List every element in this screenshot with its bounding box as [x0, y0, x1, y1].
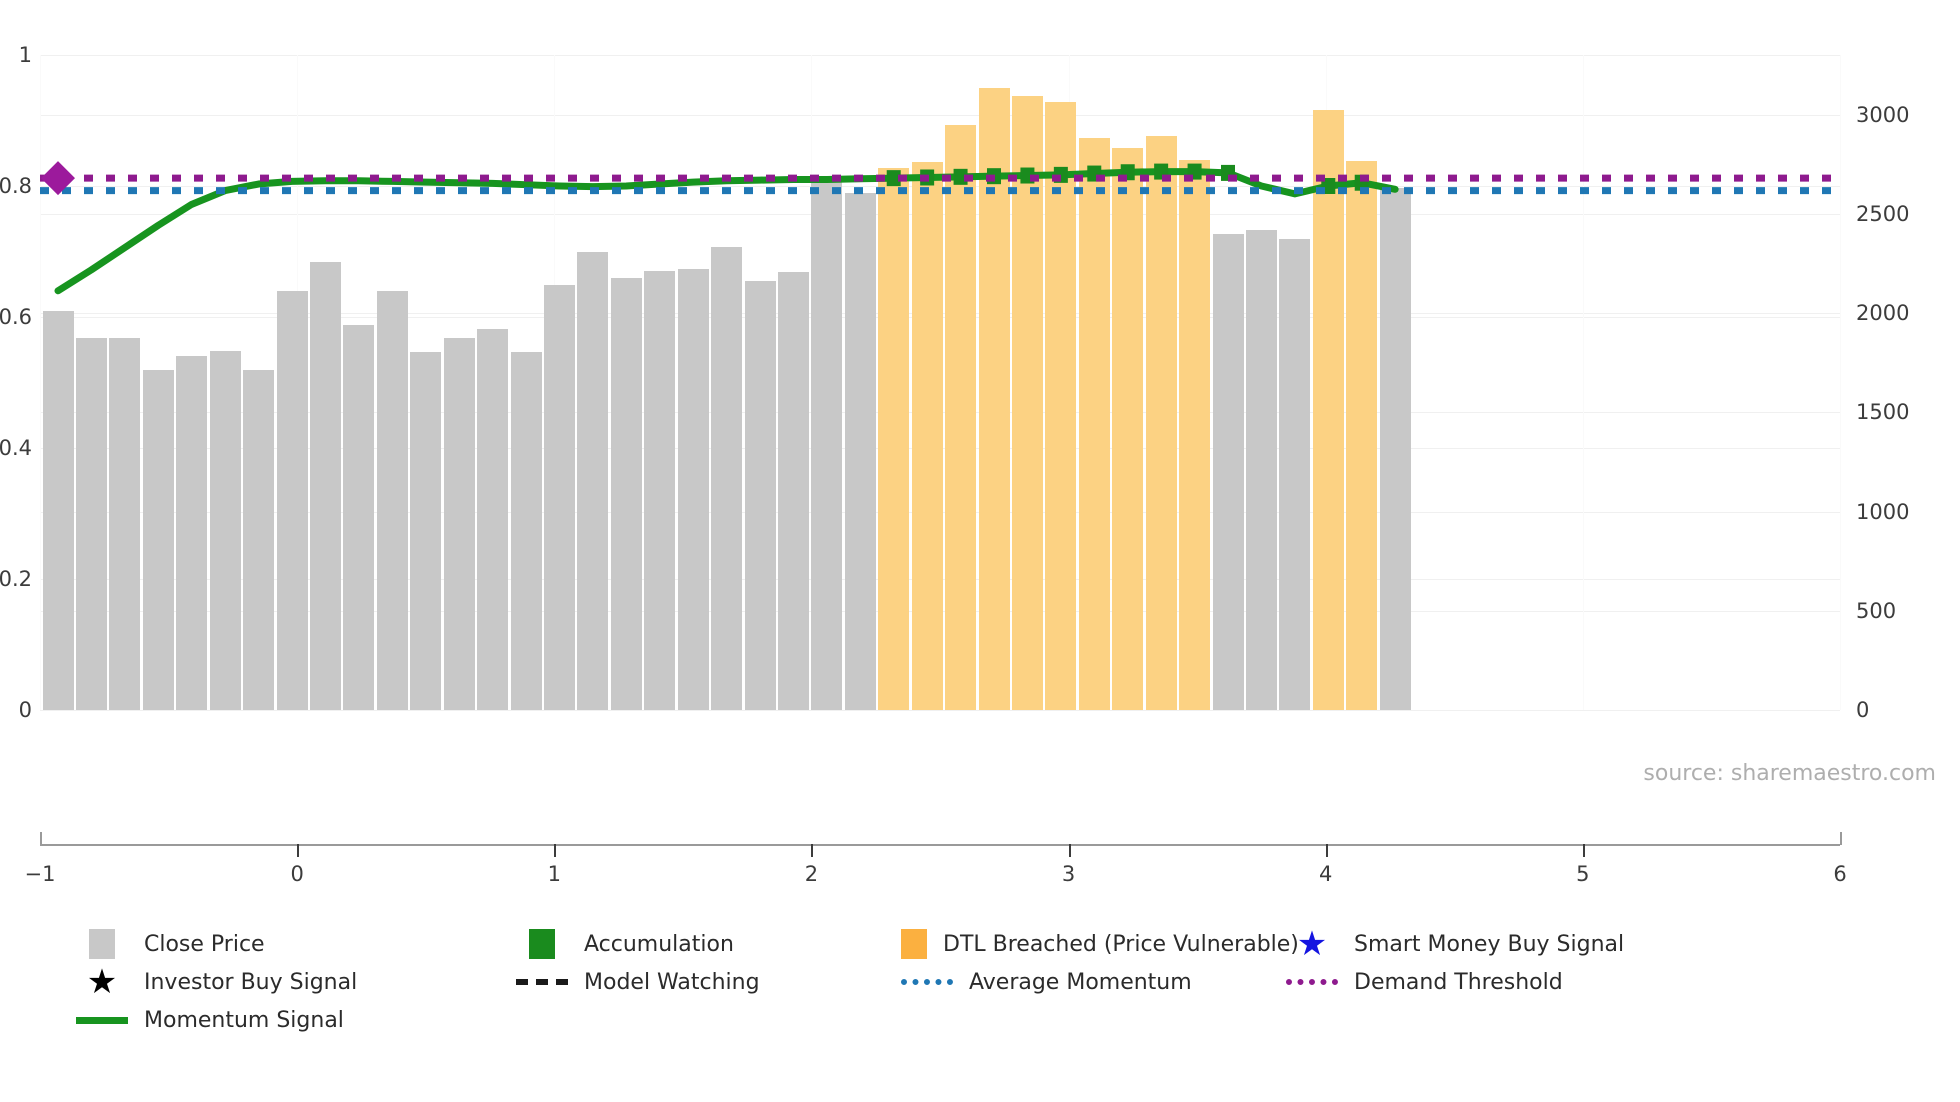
source-note: source: sharemaestro.com [1643, 761, 1936, 786]
legend-row: ★Investor Buy SignalModel WatchingAverag… [76, 963, 1946, 1001]
legend-star-smart-money-icon: ★ [1297, 927, 1327, 961]
legend-item-smart-money-buy-signal[interactable]: ★Smart Money Buy Signal [1286, 927, 1686, 961]
gridline-horizontal [40, 710, 1840, 711]
legend-swatch-accumulation [529, 929, 555, 959]
y-axis-right-tick-label: 1000 [1856, 500, 1909, 524]
x-axis-tick [811, 844, 813, 857]
x-axis-tick [1840, 832, 1842, 845]
y-axis-right-tick-label: 2500 [1856, 202, 1909, 226]
chart-legend: Close PriceAccumulationDTL Breached (Pri… [76, 925, 1946, 1039]
y-axis-right-tick-label: 500 [1856, 599, 1896, 623]
gridline-vertical [1840, 55, 1841, 710]
legend-label: Demand Threshold [1354, 970, 1563, 995]
legend-row: Close PriceAccumulationDTL Breached (Pri… [76, 925, 1946, 963]
legend-swatch-dtl-breached [901, 929, 927, 959]
x-axis-tick [554, 844, 556, 857]
x-axis-tick-label: 1 [548, 862, 561, 886]
legend-label: Smart Money Buy Signal [1354, 932, 1624, 957]
legend-label: Investor Buy Signal [144, 970, 357, 995]
legend-swatch-close-price [89, 929, 115, 959]
legend-star-investor-icon: ★ [87, 965, 117, 999]
x-axis-tick-label: 0 [290, 862, 303, 886]
y-axis-left-tick-label: 0 [19, 698, 32, 722]
legend-label: Close Price [144, 932, 265, 957]
legend-label: Accumulation [584, 932, 734, 957]
y-axis-left-tick-label: 0.6 [0, 305, 32, 329]
x-axis-tick-label: 6 [1833, 862, 1846, 886]
legend-item-model-watching[interactable]: Model Watching [516, 970, 901, 995]
legend-row: Momentum Signal [76, 1001, 1946, 1039]
y-axis-left-tick-label: 1 [19, 43, 32, 67]
legend-dotted-average-momentum [901, 979, 953, 985]
x-axis-tick-label: 3 [1062, 862, 1075, 886]
y-axis-left: 00.20.40.60.81 [0, 55, 40, 710]
legend-label: DTL Breached (Price Vulnerable) [943, 932, 1299, 957]
x-axis-tick [1326, 844, 1328, 857]
legend-item-investor-buy-signal[interactable]: ★Investor Buy Signal [76, 965, 516, 999]
y-axis-right-tick-label: 2000 [1856, 301, 1909, 325]
x-axis-tick-label: −1 [25, 862, 56, 886]
y-axis-left-tick-label: 0.4 [0, 436, 32, 460]
legend-label: Average Momentum [969, 970, 1192, 995]
series-overlay [40, 55, 1840, 710]
legend-item-average-momentum[interactable]: Average Momentum [901, 970, 1286, 995]
x-axis-tick [297, 844, 299, 857]
chart-canvas: 00.20.40.60.81 050010001500200025003000 … [0, 0, 1960, 1102]
plot-area [40, 55, 1840, 710]
legend-dashed-model-watching [516, 979, 568, 985]
y-axis-left-tick-label: 0.2 [0, 567, 32, 591]
y-axis-right-tick-label: 1500 [1856, 400, 1909, 424]
legend-item-demand-threshold[interactable]: Demand Threshold [1286, 970, 1686, 995]
y-axis-left-tick-label: 0.8 [0, 174, 32, 198]
legend-item-close-price[interactable]: Close Price [76, 929, 516, 959]
x-axis-tick [40, 832, 42, 845]
x-axis-tick-label: 4 [1319, 862, 1332, 886]
y-axis-right-tick-label: 0 [1856, 698, 1869, 722]
y-axis-right-tick-label: 3000 [1856, 103, 1909, 127]
legend-label: Momentum Signal [144, 1008, 344, 1033]
x-axis-tick-label: 2 [805, 862, 818, 886]
legend-dotted-demand-threshold [1286, 979, 1338, 985]
legend-item-momentum-signal[interactable]: Momentum Signal [76, 1008, 516, 1033]
legend-label: Model Watching [584, 970, 760, 995]
legend-item-accumulation[interactable]: Accumulation [516, 929, 901, 959]
x-axis-tick-label: 5 [1576, 862, 1589, 886]
x-axis-line [40, 844, 1840, 846]
legend-item-dtl-breached-price-vulnerable[interactable]: DTL Breached (Price Vulnerable) [901, 929, 1286, 959]
x-axis-tick [1069, 844, 1071, 857]
legend-solid-momentum-signal [76, 1017, 128, 1024]
x-axis-tick [1583, 844, 1585, 857]
y-axis-right: 050010001500200025003000 [1848, 55, 1958, 710]
